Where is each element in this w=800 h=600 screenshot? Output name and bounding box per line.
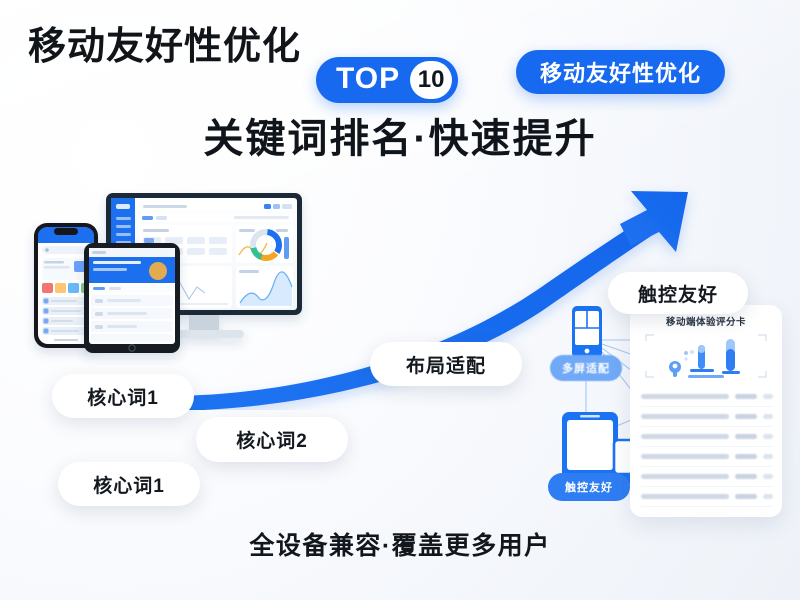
mobile-experience-panel: 多屏适配 触控友好 移动端体验评分卡: [540, 300, 790, 525]
footer-tagline: 全设备兼容·覆盖更多用户: [0, 526, 800, 562]
header-tag-pill[interactable]: 移动友好性优化: [516, 50, 725, 94]
top-badge-word: TOP: [336, 64, 400, 96]
large-tablet-icon: [562, 412, 618, 482]
top-badge-number: 10: [410, 61, 452, 99]
top-rank-badge: TOP 10: [316, 57, 458, 103]
pill-multi-screen[interactable]: 多屏适配: [550, 355, 622, 381]
score-card-rows: [641, 387, 773, 507]
callout-keyword-3[interactable]: 核心词1: [58, 462, 200, 506]
score-card-chart-illustration: [642, 331, 770, 381]
device-mockup-group: [18, 185, 328, 390]
callout-touch-friendly[interactable]: 触控友好: [608, 272, 748, 314]
small-phone-icon: [572, 306, 602, 358]
callout-layout-fit[interactable]: 布局适配: [370, 342, 522, 386]
table-row: [641, 447, 773, 467]
table-row: [641, 387, 773, 407]
tablet-mockup: [84, 243, 180, 353]
mobile-score-card: 移动端体验评分卡: [630, 305, 782, 517]
score-card-title: 移动端体验评分卡: [630, 314, 782, 328]
pill-touch-friendly-diagram[interactable]: 触控友好: [548, 473, 630, 501]
callout-keyword-1[interactable]: 核心词1: [52, 374, 194, 418]
table-row: [641, 467, 773, 487]
page-subtitle: 关键词排名·快速提升: [0, 117, 800, 161]
table-row: [641, 487, 773, 507]
table-row: [641, 407, 773, 427]
callout-keyword-2[interactable]: 核心词2: [196, 417, 348, 462]
poster-canvas: 多屏适配 触控友好 移动端体验评分卡: [0, 0, 800, 600]
page-title: 移动友好性优化: [28, 28, 301, 66]
table-row: [641, 427, 773, 447]
